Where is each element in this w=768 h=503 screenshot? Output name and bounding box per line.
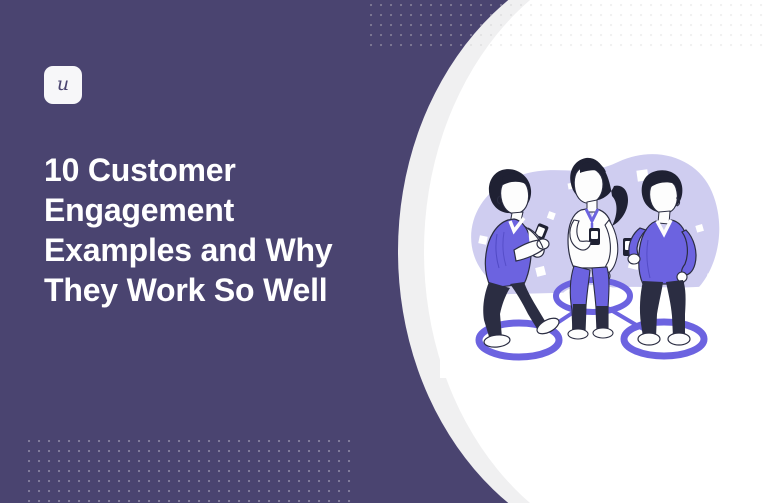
- article-cover-card: u 10 Customer Engagement Examples and Wh…: [0, 0, 768, 503]
- logo-glyph: u: [57, 75, 69, 94]
- userpilot-logo[interactable]: u: [44, 66, 82, 104]
- page-title: 10 Customer Engagement Examples and Why …: [44, 150, 344, 310]
- dot-grid-bottom-left: [28, 440, 358, 502]
- three-people-connected-network-illustration: [440, 128, 740, 378]
